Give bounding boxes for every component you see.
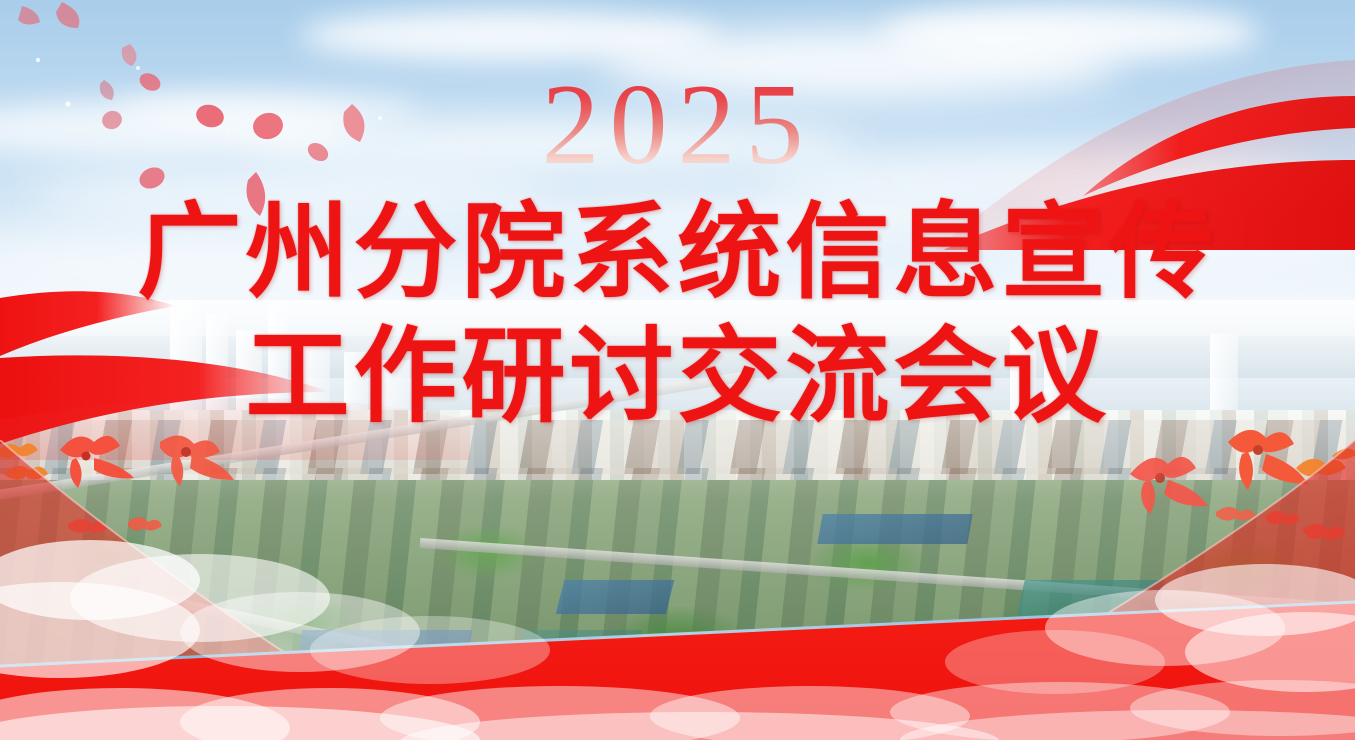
blue-roof — [817, 514, 972, 544]
blue-roof — [298, 630, 472, 662]
blue-roof — [556, 580, 674, 614]
blue-roof — [638, 652, 831, 682]
cloud — [880, 4, 1260, 62]
tennis-court — [1015, 580, 1164, 624]
page-title-line-2: 工作研讨交流会议 — [0, 320, 1355, 432]
year-heading: 2025 — [0, 70, 1355, 180]
poster-canvas: 2025 广州分院系统信息宣传 工作研讨交流会议 — [0, 0, 1355, 740]
page-title-line-1: 广州分院系统信息宣传 — [0, 196, 1355, 308]
tennis-court — [517, 630, 643, 658]
